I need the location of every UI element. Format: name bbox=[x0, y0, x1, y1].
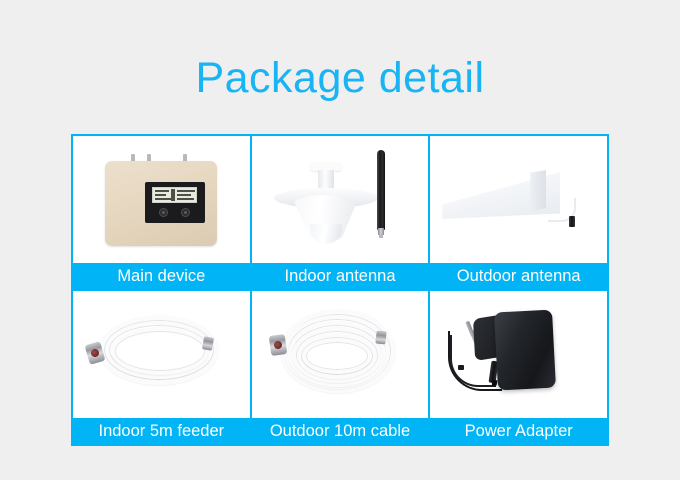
device-lcd-screen bbox=[152, 187, 197, 203]
log-periodic-antenna-icon bbox=[430, 136, 607, 263]
ceiling-dome-antenna-icon bbox=[252, 136, 429, 263]
outdoor-cable-image bbox=[252, 291, 429, 418]
signal-booster-device-icon bbox=[97, 154, 225, 246]
white-coax-coil-thin-icon bbox=[73, 291, 250, 418]
package-item-label: Power Adapter bbox=[430, 418, 607, 444]
package-detail-page: Package detail bbox=[0, 0, 680, 480]
device-button-icon bbox=[181, 208, 190, 217]
outdoor-antenna-image bbox=[430, 136, 607, 263]
white-coax-coil-thick-icon bbox=[252, 291, 429, 418]
indoor-antenna-image bbox=[252, 136, 429, 263]
package-item-outdoor-antenna[interactable]: Outdoor antenna bbox=[428, 136, 607, 289]
device-body bbox=[105, 161, 217, 246]
package-item-power-adapter[interactable]: Power Adapter bbox=[428, 291, 607, 444]
package-item-label: Outdoor 10m cable bbox=[252, 418, 429, 444]
cable-loop bbox=[111, 327, 209, 375]
package-item-label: Outdoor antenna bbox=[430, 263, 607, 289]
main-device-image bbox=[73, 136, 250, 263]
cable-loop bbox=[302, 338, 372, 374]
indoor-feeder-image bbox=[73, 291, 250, 418]
dome-antenna bbox=[274, 162, 378, 238]
device-control-panel bbox=[145, 182, 205, 223]
whip-connector bbox=[379, 234, 383, 238]
package-grid-row: Main device bbox=[73, 136, 607, 291]
package-item-indoor-antenna[interactable]: Indoor antenna bbox=[250, 136, 429, 289]
cable-connector-sma bbox=[375, 331, 386, 345]
dome-bell-lower bbox=[310, 224, 342, 244]
package-item-label: Indoor antenna bbox=[252, 263, 429, 289]
page-title: Package detail bbox=[0, 52, 680, 104]
cable-connector-n-type bbox=[268, 334, 287, 356]
package-item-indoor-feeder[interactable]: Indoor 5m feeder bbox=[73, 291, 250, 444]
whip-rod bbox=[377, 150, 385, 230]
device-button-icon bbox=[159, 208, 168, 217]
whip-antenna-icon bbox=[376, 150, 386, 238]
package-item-label: Indoor 5m feeder bbox=[73, 418, 250, 444]
antenna-rear-face bbox=[530, 170, 546, 214]
black-power-adapter-icon bbox=[430, 291, 607, 418]
power-adapter-image bbox=[430, 291, 607, 418]
adapter-cable-clip bbox=[458, 365, 464, 370]
adapter-body bbox=[494, 310, 556, 391]
antenna-connector bbox=[569, 216, 575, 227]
package-grid-row: Indoor 5m feeder Outdoor 1 bbox=[73, 291, 607, 444]
package-item-main-device[interactable]: Main device bbox=[73, 136, 250, 289]
package-item-label: Main device bbox=[73, 263, 250, 289]
package-grid: Main device bbox=[71, 134, 609, 446]
package-item-outdoor-cable[interactable]: Outdoor 10m cable bbox=[250, 291, 429, 444]
